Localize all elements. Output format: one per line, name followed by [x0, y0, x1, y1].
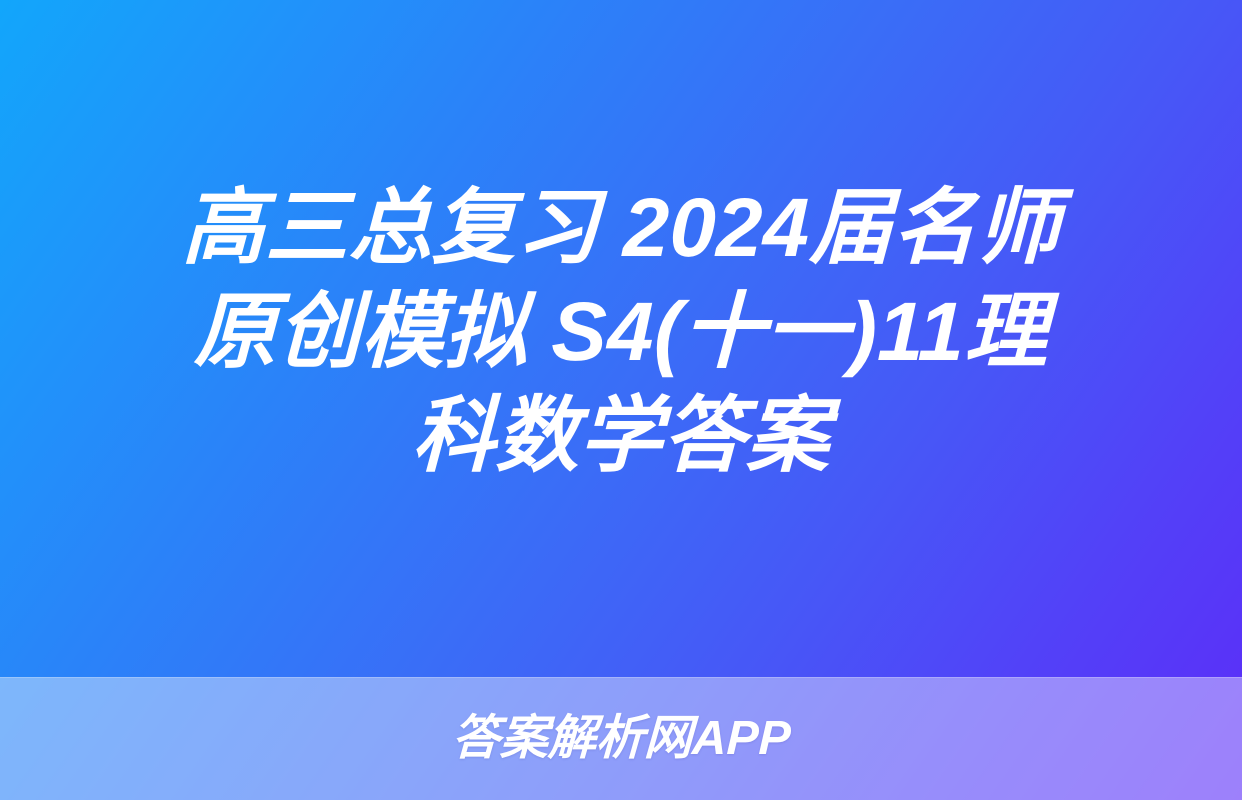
headline-line-2: 原创模拟 S4(十一)11理: [61, 280, 1181, 384]
watermark-app-label: 答案解析网APP: [451, 713, 792, 765]
strip-divider: [0, 677, 1242, 678]
bottom-branding-strip: 答案解析网APP: [0, 677, 1242, 800]
headline-block: 高三总复习 2024届名师 原创模拟 S4(十一)11理 科数学答案: [0, 176, 1242, 488]
headline-line-1: 高三总复习 2024届名师: [61, 176, 1181, 280]
cover-banner: 高三总复习 2024届名师 原创模拟 S4(十一)11理 科数学答案 答案解析网…: [0, 0, 1242, 800]
headline-line-3: 科数学答案: [61, 384, 1181, 488]
